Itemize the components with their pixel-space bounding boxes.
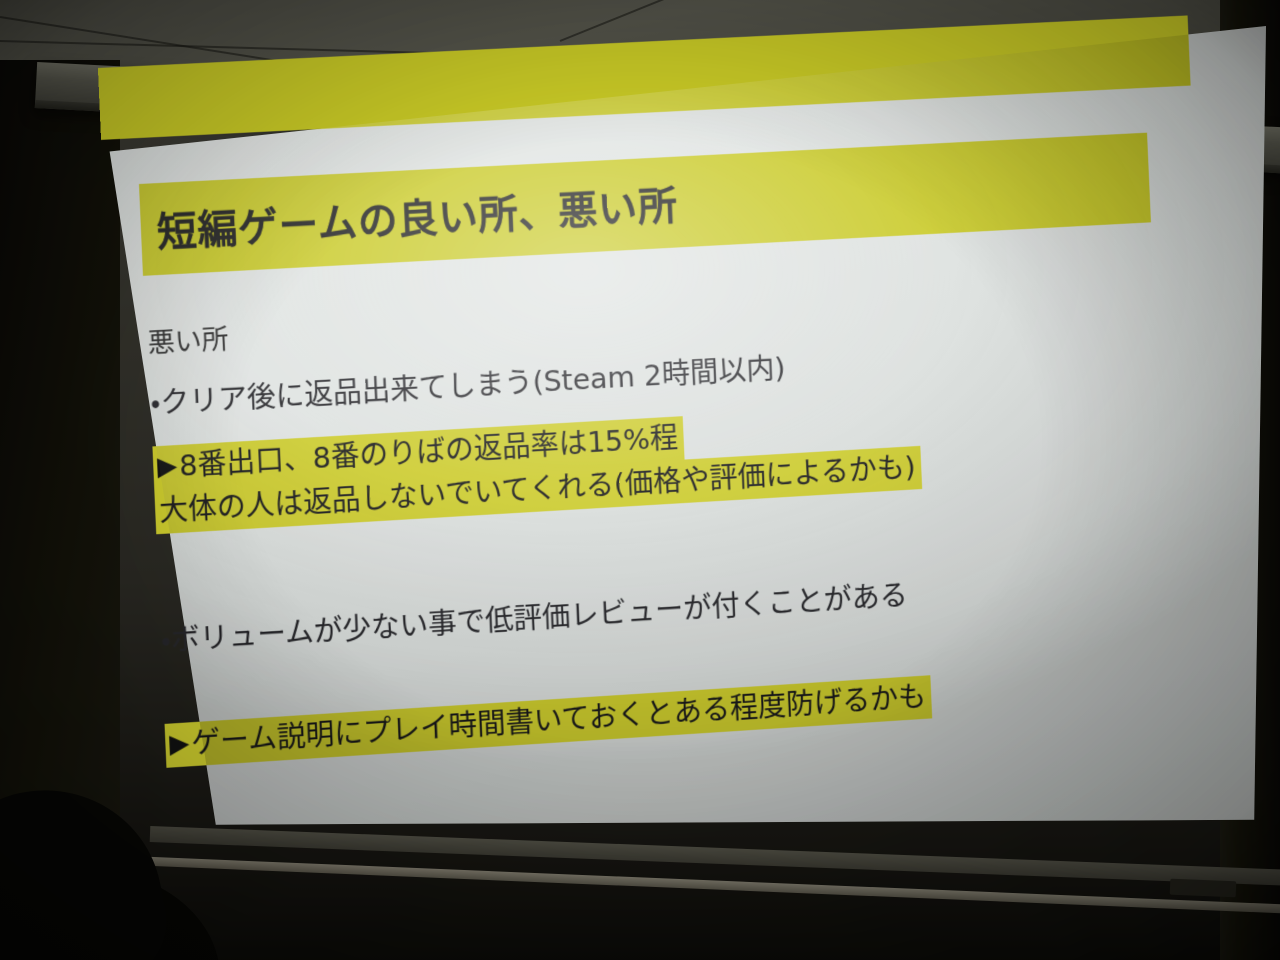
top-accent-band <box>98 15 1191 139</box>
page-title: 短編ゲームの良い所、悪い所 <box>156 173 679 258</box>
slide-body: 悪い所 ・クリア後に返品出来てしまう(Steam 2時間以内) ▶8番出口、8番… <box>147 265 1216 768</box>
section-label-text: 悪い所 <box>147 324 229 359</box>
triangle-bullet-icon: ▶ <box>157 453 178 480</box>
list-item-label: クリア後に返品出来てしまう(Steam 2時間以内) <box>160 351 786 420</box>
triangle-bullet-icon: ▶ <box>169 730 190 757</box>
projected-slide: 短編ゲームの良い所、悪い所 悪い所 ・クリア後に返品出来てしまう(Steam 2… <box>96 0 1267 823</box>
screen-weight-tab <box>1170 879 1237 898</box>
photo-frame: 短編ゲームの良い所、悪い所 悪い所 ・クリア後に返品出来てしまう(Steam 2… <box>0 0 1280 960</box>
slide-title-band: 短編ゲームの良い所、悪い所 <box>139 133 1151 276</box>
